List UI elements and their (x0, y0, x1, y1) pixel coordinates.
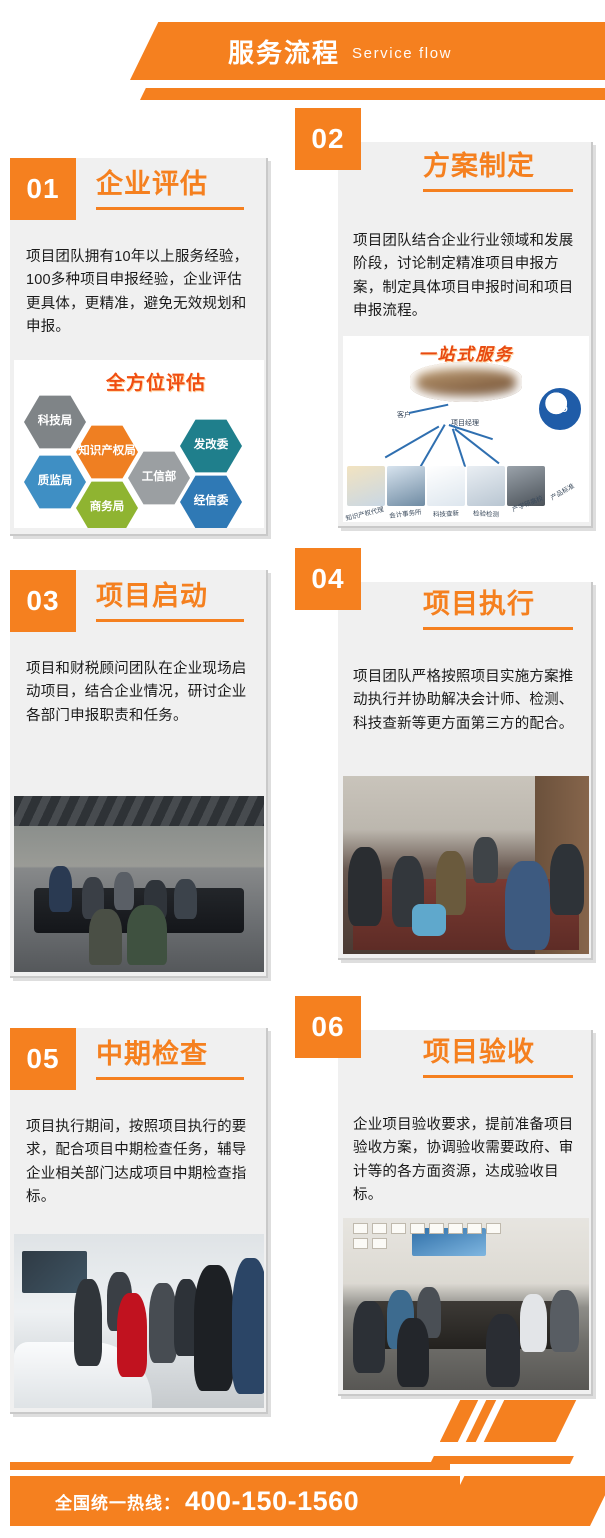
hex-node-zhishi[interactable]: 知识产权局 (76, 424, 138, 480)
hotline-label: 全国统一热线： (55, 1489, 181, 1514)
caption-accounting: 会计事务所 (389, 506, 422, 520)
footer-main-bar-skew (440, 1476, 605, 1526)
title-underline (423, 189, 573, 192)
corner-stripe-decoration (440, 1400, 605, 1442)
footer-thin-bar (10, 1462, 450, 1470)
card-description: 项目和财税顾问团队在企业现场启动项目，结合企业情况，研讨企业各部门申报职责和任务… (26, 658, 252, 728)
card-title-group: 中期检查 (96, 1040, 256, 1080)
hex-diagram-title: 全方位评估 (106, 368, 206, 395)
step-card-05[interactable]: 05 中期检查 项目执行期间，按照项目执行的要求，配合项目中期检查任务，辅导企业… (10, 1028, 272, 1418)
card-description: 项目团队结合企业行业领域和发展阶段，讨论制定精准项目申报方案，制定具体项目申报时… (353, 230, 581, 324)
title-underline (96, 1077, 244, 1080)
card-title: 项目验收 (423, 1038, 593, 1068)
service-flow-poster: 服务流程 Service flow 01 企业评估 项目团队拥有10年以上服务经… (0, 0, 605, 1538)
arrow-1 (409, 404, 448, 414)
step-number-badge: 02 (295, 108, 361, 170)
card-title: 企业评估 (96, 170, 256, 200)
card-description: 项目团队拥有10年以上服务经验，100多种项目申报经验，企业评估更具体，更精准，… (26, 246, 252, 340)
step-number-badge: 03 (10, 570, 76, 632)
hex-node-keji[interactable]: 科技局 (24, 394, 86, 450)
photo-working-session (343, 776, 589, 954)
card-title-group: 方案制定 (423, 152, 593, 192)
photo-site-visit (14, 1234, 264, 1408)
title-underline (423, 1075, 573, 1078)
card-title: 中期检查 (96, 1040, 256, 1070)
hex-node-gongxin[interactable]: 工信部 (128, 450, 190, 506)
photo-meeting-room (14, 796, 264, 972)
page-subtitle: Service flow (352, 45, 452, 62)
title-underline (423, 627, 573, 630)
hotline-group[interactable]: 全国统一热线： 400-150-1560 (55, 1476, 359, 1526)
hex-node-zhijian[interactable]: 质监局 (24, 454, 86, 510)
card-title-group: 项目启动 (96, 582, 256, 622)
card-title-group: 企业评估 (96, 170, 256, 210)
title-underline (96, 207, 244, 210)
card-description: 项目执行期间，按照项目执行的要求，配合项目中期检查任务，辅导企业相关部门达成项目… (26, 1116, 252, 1210)
thumb-inspection (467, 466, 505, 506)
card-description: 项目团队严格按照项目实施方案推动执行并协助解决会计师、检测、科技查新等更方面第三… (353, 666, 581, 736)
card-title: 项目启动 (96, 582, 256, 612)
card-title: 方案制定 (423, 152, 593, 182)
card-title-group: 项目执行 (423, 590, 593, 630)
header-title-group: 服务流程 Service flow (228, 30, 605, 76)
step-card-01[interactable]: 01 企业评估 项目团队拥有10年以上服务经验，100多种项目申报经验，企业评估… (10, 158, 272, 540)
assessment-hex-diagram: 全方位评估 科技局 知识产权局 发改委 质监局 工信部 商务局 经信委 (14, 360, 264, 528)
thumb-ip-agency (347, 466, 385, 506)
header-accent-shape (140, 88, 605, 100)
hex-node-shangwu[interactable]: 商务局 (76, 480, 138, 528)
caption-inspection: 检验检测 (473, 507, 499, 518)
hex-node-jingxin[interactable]: 经信委 (180, 474, 242, 528)
footer-thin-bar-skew (430, 1456, 574, 1464)
step-card-06[interactable]: 06 项目验收 企业项目验收要求，提前准备项目验收方案，协调验收需要政府、审计等… (295, 996, 595, 1400)
iso-seal-icon: ISO (539, 388, 581, 430)
wall-certificates (353, 1223, 506, 1251)
caption-product-standard: 产品标准 (548, 480, 576, 502)
card-title: 项目执行 (423, 590, 593, 620)
title-underline (96, 619, 244, 622)
caption-tech-search: 科技查新 (433, 507, 459, 518)
card-title-group: 项目验收 (423, 1038, 593, 1078)
step-card-02[interactable]: 02 方案制定 项目团队结合企业行业领域和发展阶段，讨论制定精准项目申报方案，制… (295, 108, 595, 530)
step-card-03[interactable]: 03 项目启动 项目和财税顾问团队在企业现场启动项目，结合企业情况，研讨企业各部… (10, 570, 272, 982)
step-number-badge: 04 (295, 548, 361, 610)
arrow-3 (385, 426, 439, 458)
card-description: 企业项目验收要求，提前准备项目验收方案，协调验收需要政府、审计等的各方面资源，达… (353, 1114, 581, 1208)
caption-ip-agency: 知识产权代理 (344, 503, 384, 522)
step-number-badge: 05 (10, 1028, 76, 1090)
team-photo-ellipse (410, 362, 522, 402)
step-number-badge: 06 (295, 996, 361, 1058)
thumb-accounting (387, 466, 425, 506)
photo-boardroom (343, 1218, 589, 1390)
one-stop-service-diagram: 一站式服务 客户 项目经理 知识产权代理 会计事务所 科技查新 检验检测 产学研… (343, 336, 589, 522)
hex-node-fagai[interactable]: 发改委 (180, 418, 242, 474)
thumb-tech-search (427, 466, 465, 506)
hotline-number[interactable]: 400-150-1560 (185, 1486, 359, 1517)
page-title: 服务流程 (228, 40, 340, 66)
step-number-badge: 01 (10, 158, 76, 220)
step-card-04[interactable]: 04 项目执行 项目团队严格按照项目实施方案推动执行并协助解决会计师、检测、科技… (295, 548, 595, 964)
page-header: 服务流程 Service flow (0, 0, 605, 106)
